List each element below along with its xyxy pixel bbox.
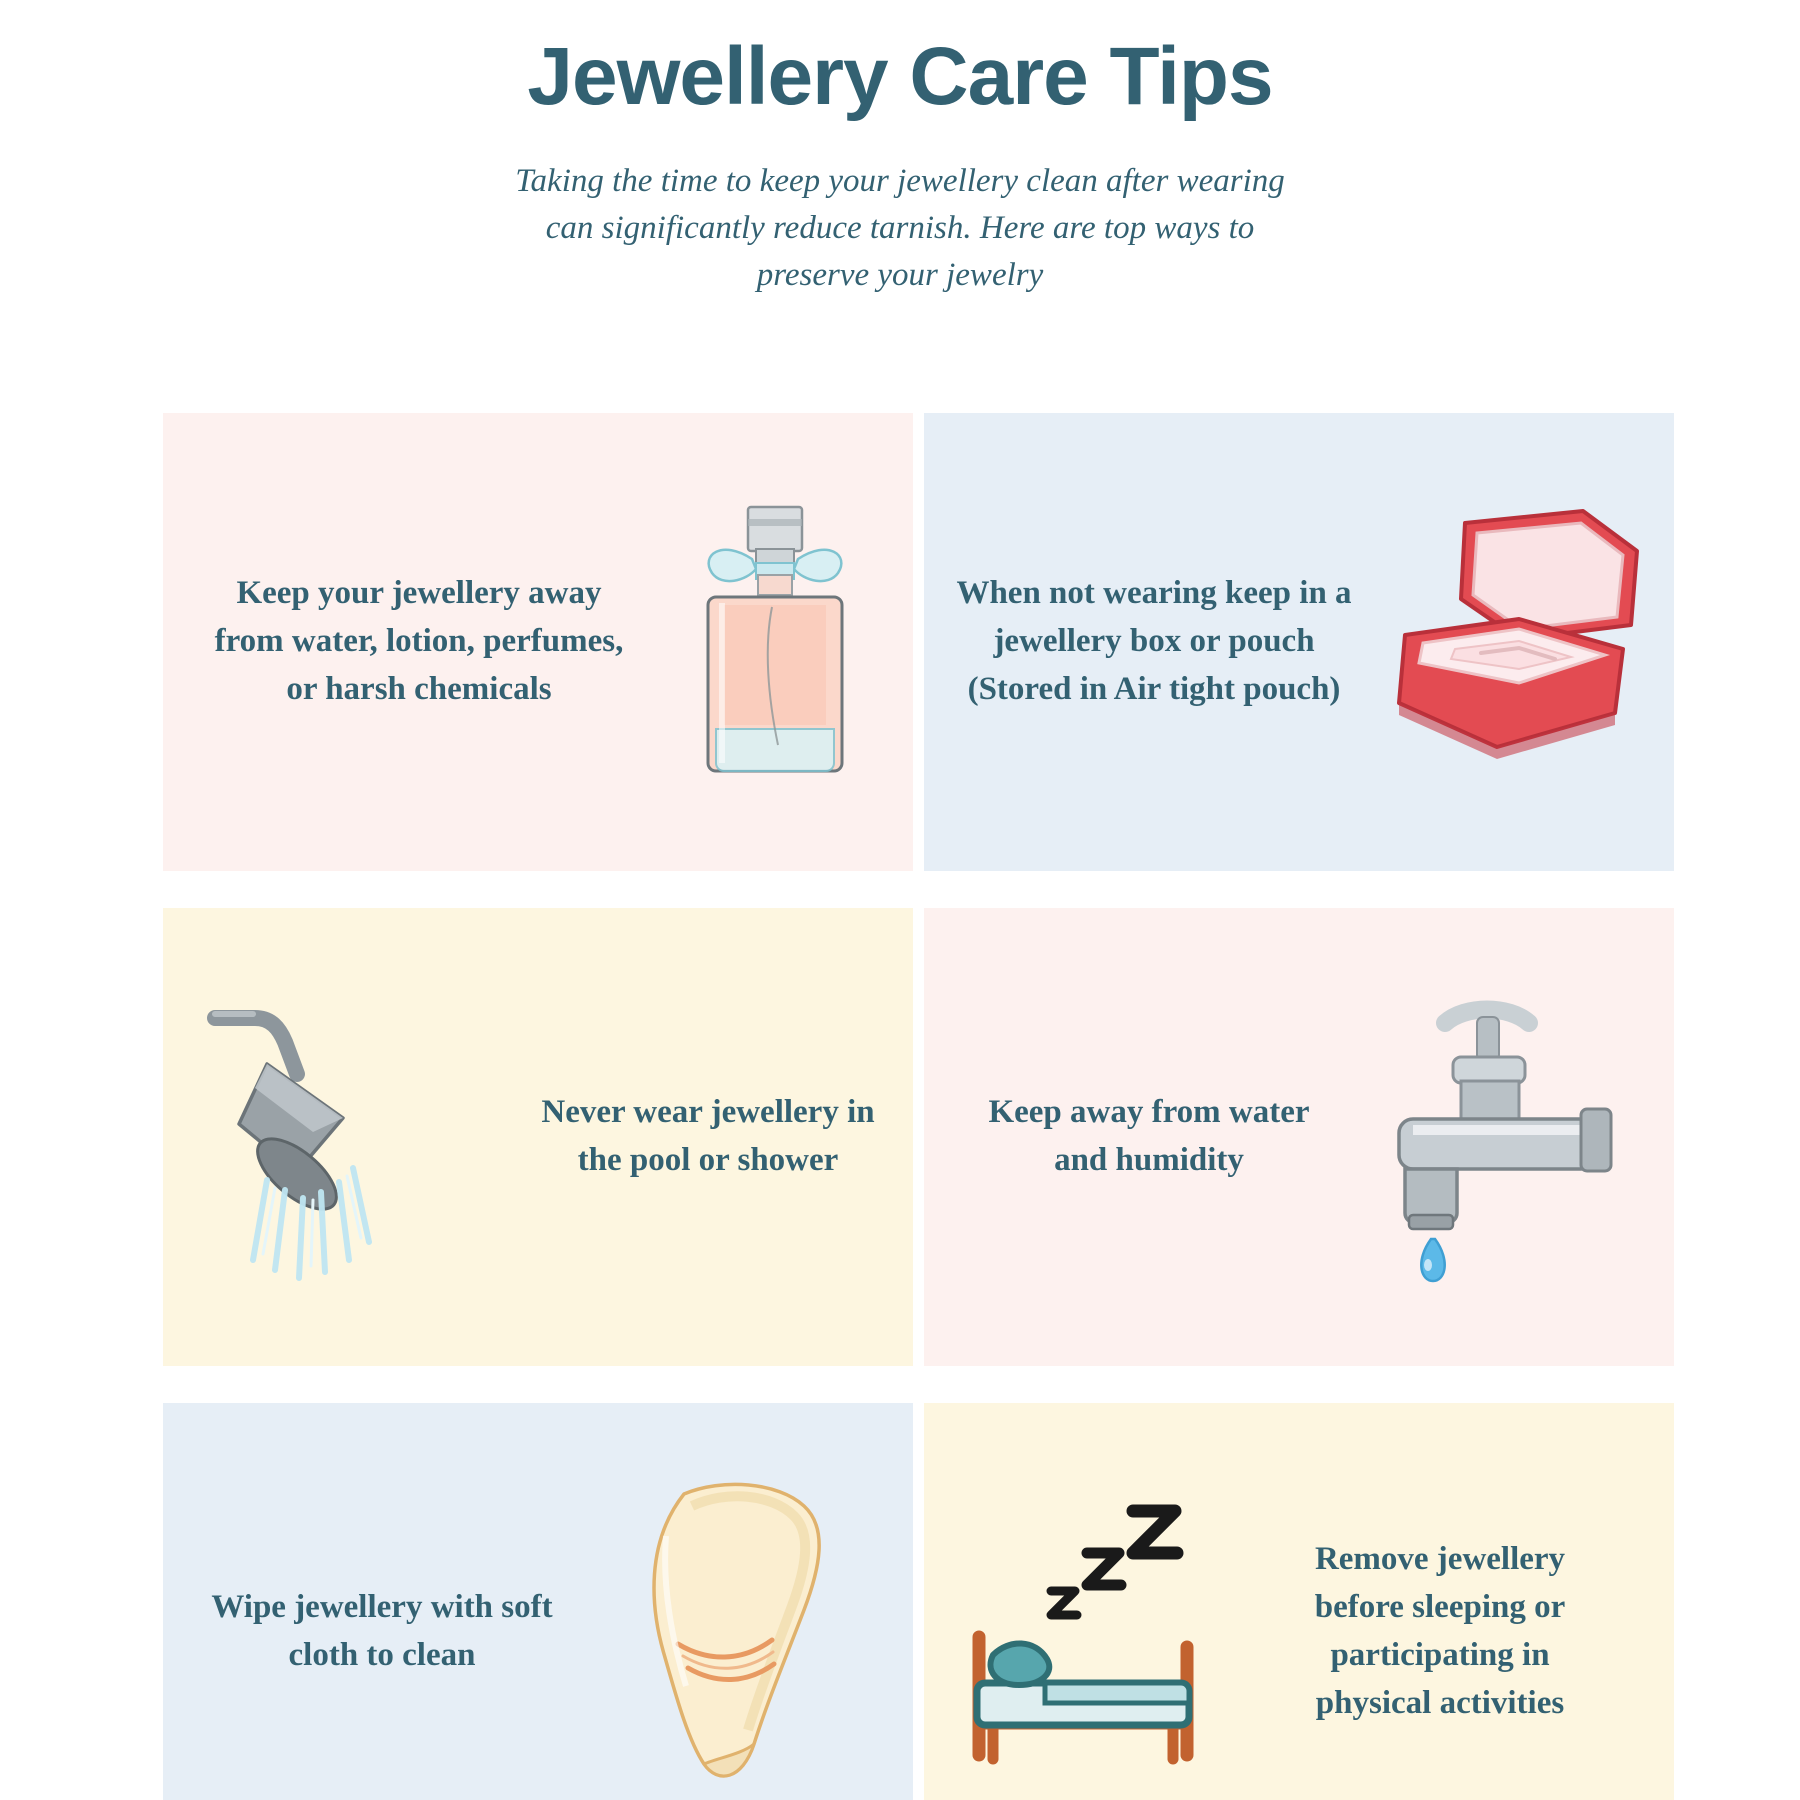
tip-card-chemicals: Keep your jewellery away from water, lot… xyxy=(163,413,913,871)
tip-card-humidity: Keep away from water and humidity xyxy=(924,908,1674,1366)
tip-card-text: When not wearing keep in a jewellery box… xyxy=(954,570,1354,714)
bed-sleeping-icon xyxy=(950,1487,1250,1777)
tip-card-text: Never wear jewellery in the pool or show… xyxy=(533,1089,883,1185)
page-subtitle: Taking the time to keep your jewellery c… xyxy=(500,158,1300,299)
tip-card-text: Remove jewellery before sleeping or part… xyxy=(1270,1536,1610,1727)
perfume-bottle-icon xyxy=(645,497,905,787)
tip-card-text: Keep your jewellery away from water, lot… xyxy=(199,570,639,714)
tips-grid: Keep your jewellery away from water, lot… xyxy=(163,413,1641,1800)
tip-card-wipe: Wipe jewellery with soft cloth to clean xyxy=(163,1403,913,1800)
ring-box-icon xyxy=(1364,507,1664,777)
tip-card-storage: When not wearing keep in a jewellery box… xyxy=(924,413,1674,871)
tip-card-text: Wipe jewellery with soft cloth to clean xyxy=(197,1584,567,1680)
shower-head-icon xyxy=(183,992,503,1282)
header: Jewellery Care Tips Taking the time to k… xyxy=(0,0,1800,299)
page-title: Jewellery Care Tips xyxy=(0,30,1800,124)
faucet-icon xyxy=(1344,987,1644,1287)
tip-card-text: Keep away from water and humidity xyxy=(984,1089,1314,1185)
cloth-icon xyxy=(577,1472,897,1792)
tip-card-shower: Never wear jewellery in the pool or show… xyxy=(163,908,913,1366)
tip-card-sleep: Remove jewellery before sleeping or part… xyxy=(924,1403,1674,1800)
infographic-page: Jewellery Care Tips Taking the time to k… xyxy=(0,0,1800,1800)
